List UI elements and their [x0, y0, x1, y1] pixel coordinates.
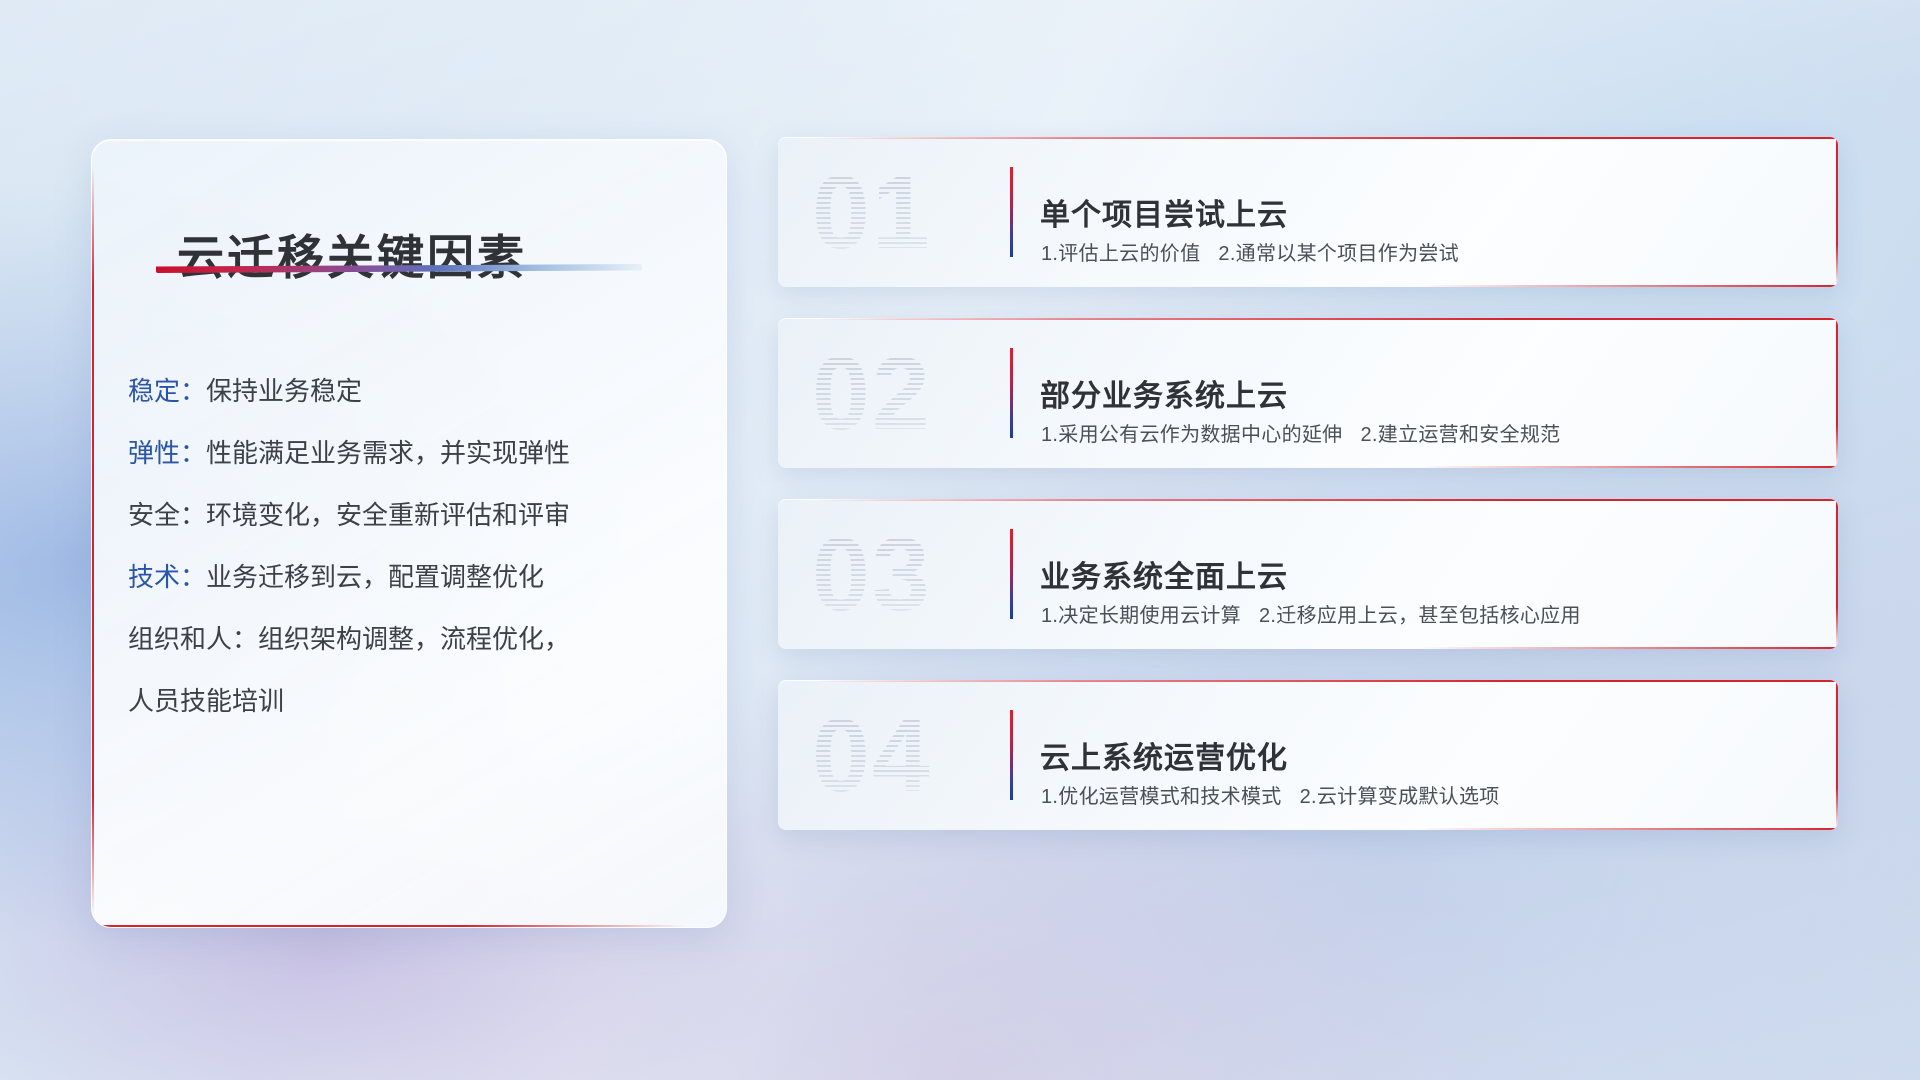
step-point-1: 1.决定长期使用云计算	[1041, 605, 1241, 627]
step-number-watermark: 03	[812, 519, 992, 631]
step-number-watermark: 04	[812, 700, 992, 812]
card-divider-bar	[1010, 710, 1013, 800]
list-item: 稳定：保持业务稳定	[128, 360, 698, 422]
card-top-accent	[816, 137, 1838, 139]
card-bottom-accent	[1418, 466, 1838, 468]
panel-left-accent-line	[92, 166, 94, 917]
card-bottom-accent	[1418, 647, 1838, 649]
factor-text: 环境变化，安全重新评估和评审	[206, 500, 570, 530]
card-right-accent	[1836, 318, 1838, 468]
factor-label: 安全：	[128, 500, 206, 530]
step-points: 1.优化运营模式和技术模式2.云计算变成默认选项	[1041, 780, 1500, 809]
step-point-1: 1.采用公有云作为数据中心的延伸	[1041, 424, 1342, 446]
key-factors-panel: 云迁移关键因素 稳定：保持业务稳定 弹性：性能满足业务需求，并实现弹性 安全：环…	[91, 139, 727, 928]
list-item: 组织和人：组织架构调整，流程优化，	[128, 608, 698, 670]
card-bottom-accent	[1418, 285, 1838, 287]
card-right-accent	[1836, 499, 1838, 649]
step-points: 1.评估上云的价值2.通常以某个项目作为尝试	[1041, 237, 1459, 266]
card-divider-bar	[1010, 529, 1013, 619]
step-title: 云上系统运营优化	[1040, 733, 1288, 777]
step-card-01[interactable]: 01 单个项目尝试上云 1.评估上云的价值2.通常以某个项目作为尝试	[778, 137, 1838, 287]
factor-text: 保持业务稳定	[206, 376, 362, 406]
step-card-02[interactable]: 02 部分业务系统上云 1.采用公有云作为数据中心的延伸2.建立运营和安全规范	[778, 318, 1838, 468]
card-bottom-accent	[1418, 828, 1838, 830]
step-points: 1.决定长期使用云计算2.迁移应用上云，甚至包括核心应用	[1041, 599, 1581, 628]
list-item: 人员技能培训	[128, 670, 698, 732]
list-item: 弹性：性能满足业务需求，并实现弹性	[128, 422, 698, 484]
factor-text: 人员技能培训	[128, 686, 284, 716]
factor-text: 业务迁移到云，配置调整优化	[206, 562, 544, 592]
step-title: 业务系统全面上云	[1040, 552, 1288, 596]
card-right-accent	[1836, 137, 1838, 287]
factor-label: 技术：	[128, 562, 206, 592]
step-points: 1.采用公有云作为数据中心的延伸2.建立运营和安全规范	[1041, 418, 1560, 447]
step-number-watermark: 02	[812, 338, 992, 450]
card-top-accent	[816, 680, 1838, 682]
card-top-accent	[816, 499, 1838, 501]
card-divider-bar	[1010, 348, 1013, 438]
list-item: 安全：环境变化，安全重新评估和评审	[128, 484, 698, 546]
step-point-2: 2.迁移应用上云，甚至包括核心应用	[1259, 605, 1581, 627]
step-card-03[interactable]: 03 业务系统全面上云 1.决定长期使用云计算2.迁移应用上云，甚至包括核心应用	[778, 499, 1838, 649]
factor-text: 组织架构调整，流程优化，	[258, 624, 570, 654]
step-title: 单个项目尝试上云	[1040, 190, 1288, 234]
card-divider-bar	[1010, 167, 1013, 257]
list-item: 技术：业务迁移到云，配置调整优化	[128, 546, 698, 608]
factor-label: 弹性：	[128, 438, 206, 468]
page-title: 云迁移关键因素	[177, 219, 527, 288]
migration-steps-list: 01 单个项目尝试上云 1.评估上云的价值2.通常以某个项目作为尝试 02 部分…	[778, 137, 1838, 861]
step-number-watermark: 01	[812, 157, 992, 269]
factor-text: 性能满足业务需求，并实现弹性	[206, 438, 570, 468]
key-factors-list: 稳定：保持业务稳定 弹性：性能满足业务需求，并实现弹性 安全：环境变化，安全重新…	[128, 360, 698, 732]
step-point-2: 2.建立运营和安全规范	[1360, 424, 1560, 446]
step-point-1: 1.优化运营模式和技术模式	[1041, 786, 1282, 808]
slide-stage: 云迁移关键因素 稳定：保持业务稳定 弹性：性能满足业务需求，并实现弹性 安全：环…	[0, 0, 1920, 1080]
card-top-accent	[816, 318, 1838, 320]
card-right-accent	[1836, 680, 1838, 830]
panel-bottom-accent-line	[102, 925, 686, 927]
step-point-2: 2.通常以某个项目作为尝试	[1218, 243, 1459, 265]
step-title: 部分业务系统上云	[1040, 371, 1288, 415]
step-point-1: 1.评估上云的价值	[1041, 243, 1200, 265]
step-point-2: 2.云计算变成默认选项	[1300, 786, 1500, 808]
step-card-04[interactable]: 04 云上系统运营优化 1.优化运营模式和技术模式2.云计算变成默认选项	[778, 680, 1838, 830]
factor-label: 组织和人：	[128, 624, 258, 654]
factor-label: 稳定：	[128, 376, 206, 406]
